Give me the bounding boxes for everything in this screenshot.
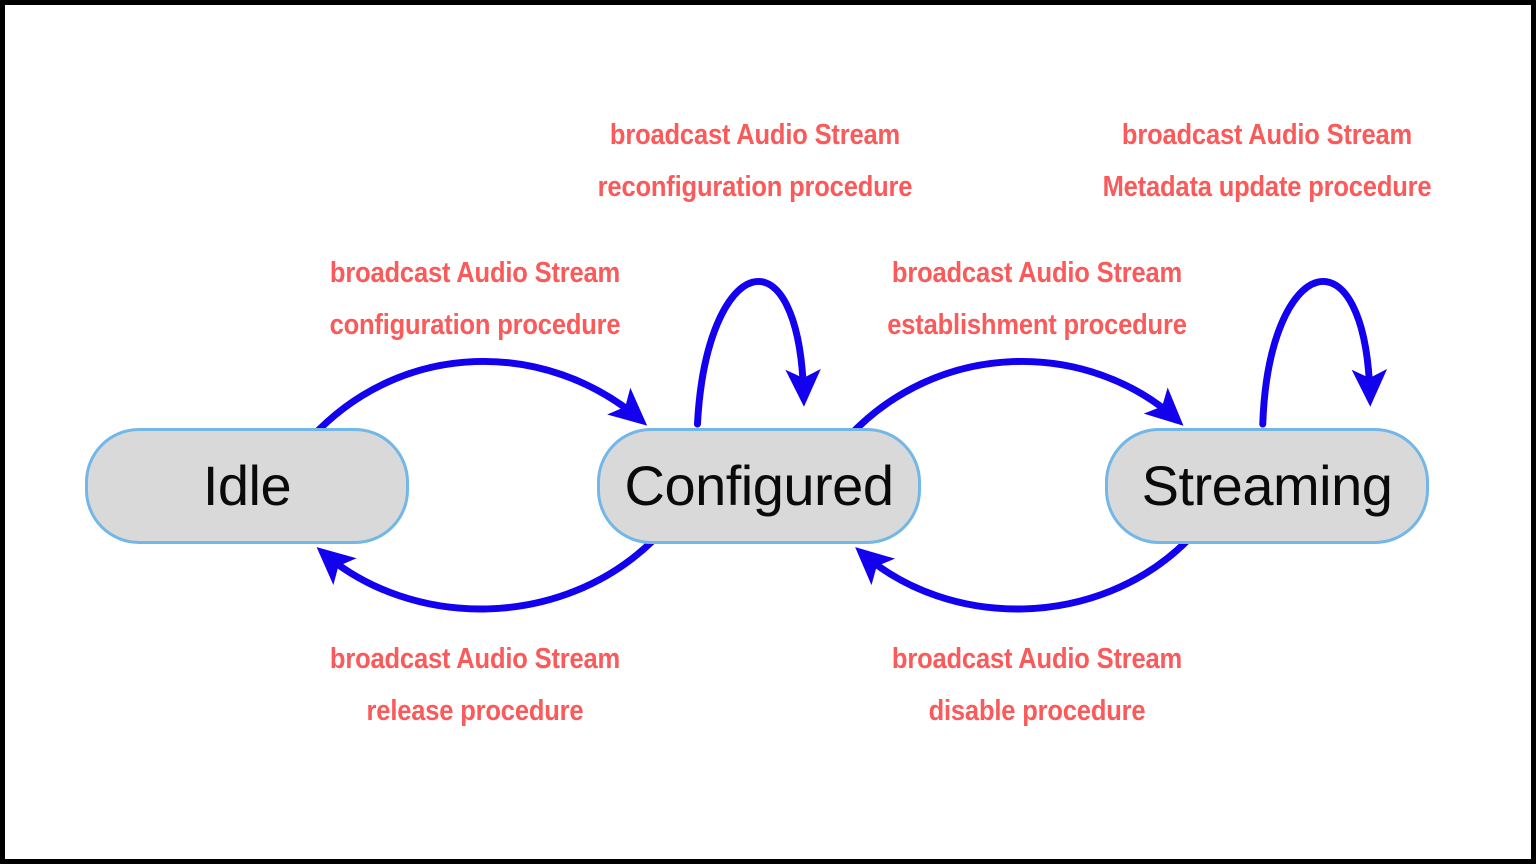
transition-label-reconfiguration-line2: reconfiguration procedure (598, 161, 913, 213)
transition-label-release-line1: broadcast Audio Stream (330, 633, 620, 685)
diagram-frame: Idle Configured Streaming broadcast Audi… (0, 0, 1536, 864)
transition-arrow-disable (861, 541, 1187, 609)
transition-label-reconfiguration: broadcast Audio Stream reconfiguration p… (576, 109, 934, 213)
state-label-configured: Configured (625, 458, 894, 514)
transition-label-establishment-line1: broadcast Audio Stream (887, 247, 1186, 299)
transition-label-disable-line1: broadcast Audio Stream (892, 633, 1182, 685)
transition-label-metadata-update: broadcast Audio Stream Metadata update p… (1080, 109, 1454, 213)
transition-arrow-establishment (847, 361, 1177, 438)
transition-label-disable-line2: disable procedure (892, 685, 1182, 737)
state-label-idle: Idle (203, 458, 291, 514)
state-node-idle[interactable]: Idle (85, 428, 409, 544)
transition-arrow-reconfiguration (697, 281, 803, 424)
transition-arrow-metadata-update (1263, 281, 1370, 424)
transition-label-metadata-update-line1: broadcast Audio Stream (1103, 109, 1432, 161)
state-node-configured[interactable]: Configured (597, 428, 921, 544)
state-node-streaming[interactable]: Streaming (1105, 428, 1429, 544)
transition-label-metadata-update-line2: Metadata update procedure (1103, 161, 1432, 213)
transition-label-disable: broadcast Audio Stream disable procedure (872, 633, 1202, 737)
transition-arrow-release (323, 541, 653, 609)
transition-label-establishment: broadcast Audio Stream establishment pro… (867, 247, 1207, 351)
transition-label-release-line2: release procedure (330, 685, 620, 737)
transition-label-configuration: broadcast Audio Stream configuration pro… (310, 247, 641, 351)
transition-label-release: broadcast Audio Stream release procedure (310, 633, 640, 737)
state-label-streaming: Streaming (1142, 458, 1393, 514)
transition-label-configuration-line2: configuration procedure (330, 299, 621, 351)
transition-label-configuration-line1: broadcast Audio Stream (330, 247, 621, 299)
transition-arrow-configuration (311, 361, 641, 438)
transition-label-reconfiguration-line1: broadcast Audio Stream (598, 109, 913, 161)
transition-label-establishment-line2: establishment procedure (887, 299, 1186, 351)
